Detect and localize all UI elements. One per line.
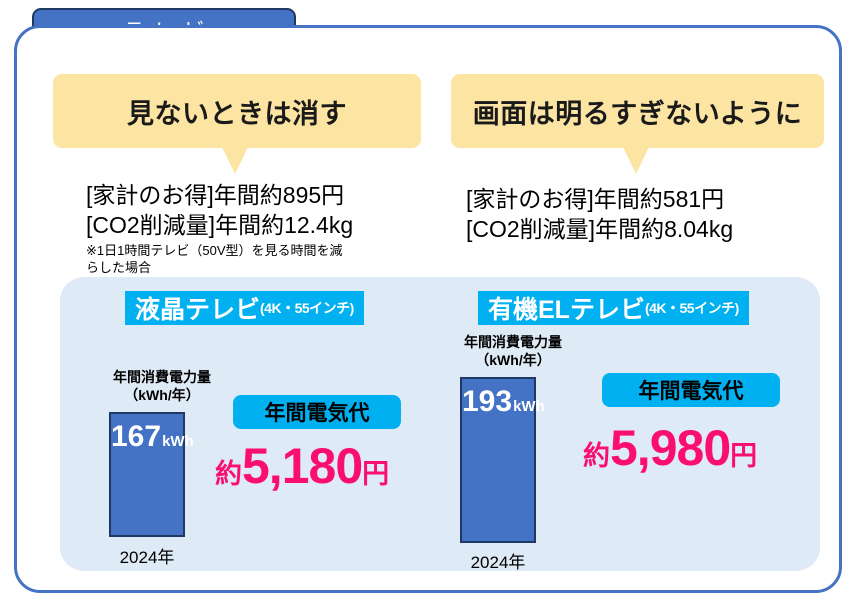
price-suffix: 円 [362,459,389,489]
product-title-main: 有機ELテレビ [488,290,645,326]
axis-caption-lcd: 年間消費電力量 （kWh/年） [92,368,232,404]
bar-number: 167 [111,420,161,453]
annual-cost-lcd: 約5,180円 [215,437,389,495]
tip-bubble-tail-left [222,147,248,174]
product-column-lcd: 液晶テレビ(4K・55インチ) 年間消費電力量 （kWh/年） 167kWh 2… [60,277,440,571]
axis-caption-line1: 年間消費電力量 [443,333,583,351]
bar-unit: kWh [513,398,545,415]
savings-block-brightness: [家計のお得]年間約581円 [CO2削減量]年間約8.04kg [466,184,733,244]
price-number: 5,980 [610,420,730,476]
product-title-main: 液晶テレビ [135,290,260,326]
bar-oled: 193kWh [460,377,536,543]
bar-unit: kWh [162,433,194,450]
price-prefix: 約 [215,459,242,489]
bar-year-label-lcd: 2024年 [79,543,215,568]
savings-footnote: ※1日1時間テレビ（50V型）を見る時間を減らした場合 [86,242,354,276]
tip-bubble-text: 見ないときは消す [127,92,347,131]
axis-caption-line2: （kWh/年） [92,386,232,404]
axis-caption-line2: （kWh/年） [443,351,583,369]
bar-lcd: 167kWh [109,412,185,537]
price-prefix: 約 [583,441,610,471]
savings-household-line: [家計のお得]年間約581円 [466,184,733,214]
price-number: 5,180 [242,438,362,494]
tip-bubble-tail-right [623,147,649,174]
savings-block-turn-off: [家計のお得]年間約895円 [CO2削減量]年間約12.4kg ※1日1時間テ… [86,180,354,276]
product-title-badge-lcd: 液晶テレビ(4K・55インチ) [125,291,364,325]
cost-badge-oled: 年間電気代 [602,373,780,407]
savings-co2-line: [CO2削減量]年間約12.4kg [86,210,354,240]
price-suffix: 円 [730,441,757,471]
tip-bubble-turn-off: 見ないときは消す [53,74,421,148]
product-title-sub: (4K・55インチ) [260,298,354,318]
product-title-badge-oled: 有機ELテレビ(4K・55インチ) [478,291,749,325]
product-column-oled: 有機ELテレビ(4K・55インチ) 年間消費電力量 （kWh/年） 193kWh… [440,277,820,571]
comparison-chart-panel: 液晶テレビ(4K・55インチ) 年間消費電力量 （kWh/年） 167kWh 2… [60,277,820,571]
bar-number: 193 [462,385,512,418]
tip-bubble-text: 画面は明るすぎないように [473,92,802,131]
product-title-sub: (4K・55インチ) [645,298,739,318]
cost-badge-lcd: 年間電気代 [233,395,401,429]
bar-value-lcd: 167kWh [111,420,183,454]
annual-cost-oled: 約5,980円 [583,419,757,477]
axis-caption-line1: 年間消費電力量 [92,368,232,386]
savings-household-line: [家計のお得]年間約895円 [86,180,354,210]
savings-co2-line: [CO2削減量]年間約8.04kg [466,214,733,244]
bar-year-label-oled: 2024年 [430,548,566,573]
axis-caption-oled: 年間消費電力量 （kWh/年） [443,333,583,369]
bar-value-oled: 193kWh [462,385,534,419]
tip-bubble-brightness: 画面は明るすぎないように [451,74,824,148]
